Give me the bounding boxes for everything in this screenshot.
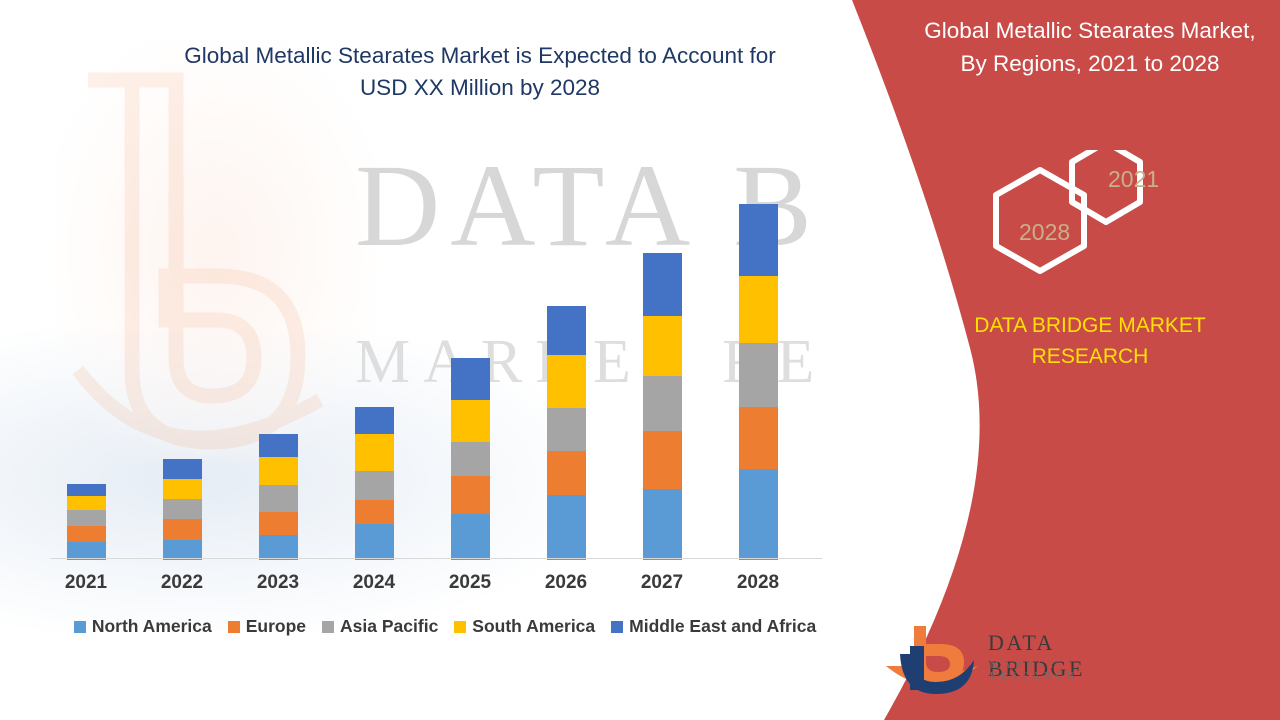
bar-segment[interactable] (259, 457, 298, 485)
bar-column-2026[interactable] (547, 306, 586, 560)
x-tick-label-2023: 2023 (230, 572, 326, 594)
legend-swatch-icon (74, 621, 86, 633)
legend-item-north-america[interactable]: North America (74, 616, 212, 637)
bar-segment[interactable] (259, 485, 298, 513)
bar-segment[interactable] (259, 535, 298, 560)
bar-segment[interactable] (163, 479, 202, 499)
bar-segment[interactable] (355, 500, 394, 524)
bar-segment[interactable] (259, 434, 298, 457)
bar-segment[interactable] (739, 469, 778, 560)
bar-segment[interactable] (451, 400, 490, 442)
bar-segment[interactable] (67, 510, 106, 525)
hexagon-2021-label: 2021 (1108, 166, 1159, 193)
bar-segment[interactable] (451, 442, 490, 476)
legend-label: Middle East and Africa (629, 616, 816, 637)
legend-swatch-icon (228, 621, 240, 633)
brand-name: DATA BRIDGE MARKET RESEARCH (900, 310, 1280, 372)
legend-label: Europe (246, 616, 306, 637)
bar-segment[interactable] (547, 408, 586, 452)
bar-segment[interactable] (739, 204, 778, 276)
data-bridge-logo: DATA BRIDGE MARKET RESEARCH (880, 620, 1140, 700)
brand-name-line-1: DATA BRIDGE MARKET (900, 310, 1280, 341)
bar-segment[interactable] (355, 407, 394, 435)
x-tick-label-2025: 2025 (422, 572, 518, 594)
legend-swatch-icon (454, 621, 466, 633)
bar-segment[interactable] (547, 451, 586, 495)
bar-segment[interactable] (739, 276, 778, 343)
bar-segment[interactable] (355, 524, 394, 560)
bar-segment[interactable] (67, 496, 106, 510)
bar-segment[interactable] (259, 512, 298, 535)
bar-segment[interactable] (67, 484, 106, 496)
bar-segment[interactable] (643, 316, 682, 376)
legend-swatch-icon (322, 621, 334, 633)
bar-column-2027[interactable] (643, 253, 682, 560)
hexagon-2028-label: 2028 (1019, 219, 1070, 246)
bar-segment[interactable] (355, 434, 394, 471)
x-tick-label-2022: 2022 (134, 572, 230, 594)
bar-column-2022[interactable] (163, 459, 202, 560)
legend-label: North America (92, 616, 212, 637)
bar-column-2028[interactable] (739, 204, 778, 560)
chart-legend: North AmericaEuropeAsia PacificSouth Ame… (50, 616, 840, 637)
panel-title: Global Metallic Stearates Market, By Reg… (900, 14, 1280, 80)
bar-column-2025[interactable] (451, 358, 490, 560)
chart-title: Global Metallic Stearates Market is Expe… (110, 40, 850, 104)
panel-title-line-2: By Regions, 2021 to 2028 (906, 47, 1274, 80)
right-panel-content: Global Metallic Stearates Market, By Reg… (900, 0, 1280, 720)
chart-title-line-1: Global Metallic Stearates Market is Expe… (110, 40, 850, 72)
bar-segment[interactable] (643, 253, 682, 316)
x-axis-line (50, 558, 822, 559)
bar-segment[interactable] (643, 489, 682, 560)
legend-item-south-america[interactable]: South America (454, 616, 595, 637)
x-axis-tick-labels: 20212022202320242025202620272028 (50, 572, 822, 602)
bar-column-2023[interactable] (259, 434, 298, 560)
legend-swatch-icon (611, 621, 623, 633)
logo-word-market-research: MARKET RESEARCH (990, 660, 1140, 682)
legend-label: South America (472, 616, 595, 637)
x-tick-label-2027: 2027 (614, 572, 710, 594)
bar-segment[interactable] (451, 358, 490, 400)
x-tick-label-2024: 2024 (326, 572, 422, 594)
bar-segment[interactable] (643, 376, 682, 431)
bar-column-2024[interactable] (355, 407, 394, 560)
legend-item-middle-east-and-africa[interactable]: Middle East and Africa (611, 616, 816, 637)
legend-label: Asia Pacific (340, 616, 438, 637)
chart-title-line-2: USD XX Million by 2028 (110, 72, 850, 104)
bar-segment[interactable] (355, 471, 394, 500)
bar-segment[interactable] (547, 355, 586, 407)
bar-segment[interactable] (163, 459, 202, 479)
bar-segment[interactable] (739, 407, 778, 469)
bar-segment[interactable] (163, 519, 202, 540)
bar-segment[interactable] (451, 514, 490, 560)
bar-column-2021[interactable] (67, 484, 106, 560)
bar-segment[interactable] (163, 499, 202, 519)
bar-segment[interactable] (739, 343, 778, 407)
bar-segment[interactable] (643, 431, 682, 488)
x-tick-label-2021: 2021 (38, 572, 134, 594)
chart-panel: DATA B MARKET RE Global Metallic Stearat… (0, 0, 900, 720)
x-tick-label-2026: 2026 (518, 572, 614, 594)
bar-segment[interactable] (547, 495, 586, 560)
legend-item-asia-pacific[interactable]: Asia Pacific (322, 616, 438, 637)
hexagon-group: 2021 2028 (900, 150, 1280, 290)
bar-segment[interactable] (451, 476, 490, 514)
bar-segment[interactable] (163, 540, 202, 560)
x-tick-label-2028: 2028 (710, 572, 806, 594)
plot-area (50, 160, 822, 560)
bar-segment[interactable] (67, 526, 106, 542)
panel-title-line-1: Global Metallic Stearates Market, (906, 14, 1274, 47)
bar-segment[interactable] (547, 306, 586, 356)
legend-item-europe[interactable]: Europe (228, 616, 306, 637)
brand-name-line-2: RESEARCH (900, 341, 1280, 372)
